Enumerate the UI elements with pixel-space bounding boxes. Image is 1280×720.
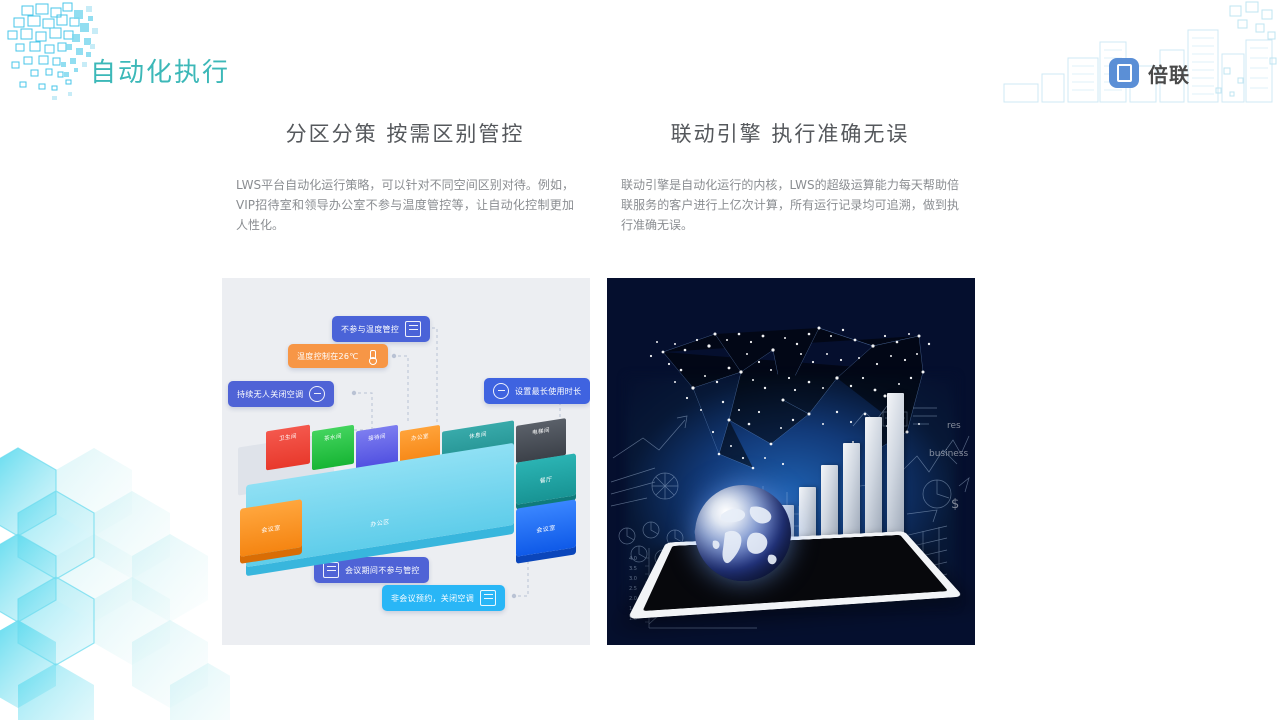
column-right: 联动引擎 执行准确无误 联动引擎是自动化运行的内核，LWS的超级运算能力每天帮助… [607, 118, 973, 235]
bar-chart-3d-icon [777, 389, 904, 549]
brand-logo: 倍联 [1109, 58, 1190, 88]
badge-label: 温度控制在26℃ [297, 351, 359, 362]
badge-label: 不参与温度管控 [341, 324, 399, 335]
svg-text:3.0: 3.0 [629, 576, 637, 582]
thermometer-icon [365, 349, 379, 363]
column-left: 分区分策 按需区别管控 LWS平台自动化运行策略，可以针对不同空间区别对待。例如… [222, 118, 588, 235]
room-meeting-blue[interactable]: 会议室 [516, 499, 576, 557]
document-list-icon [405, 321, 421, 337]
badge-label: 设置最长使用时长 [515, 386, 581, 397]
badge-unoccupied-shutdown[interactable]: 持续无人关闭空调 [228, 381, 334, 407]
svg-text:2.5: 2.5 [629, 586, 637, 592]
badge-temperature-26[interactable]: 温度控制在26℃ [288, 344, 388, 368]
globe-icon [695, 485, 791, 581]
svg-text:3.5: 3.5 [629, 566, 637, 572]
room-meeting-orange[interactable]: 会议室 [240, 499, 302, 557]
brand-name: 倍联 [1148, 59, 1190, 88]
sketch-label-res: res [947, 421, 961, 431]
sketch-label-dollar: $ [951, 497, 959, 512]
city-skyline-outline-decoration [980, 0, 1280, 110]
presence-sensor-icon [309, 386, 325, 402]
linkage-engine-illustration: res business $ 4.03.53.0 2.52.01.5 1.0 [607, 278, 975, 645]
hexagon-pattern-decoration [0, 360, 230, 720]
column-right-body: 联动引擎是自动化运行的内核，LWS的超级运算能力每天帮助倍联服务的客户进行上亿次… [621, 176, 959, 235]
column-right-heading: 联动引擎 执行准确无误 [607, 118, 973, 148]
column-left-body: LWS平台自动化运行策略，可以针对不同空间区别对待。例如，VIP招待室和领导办公… [236, 176, 574, 235]
room-pantry[interactable]: 茶水间 [312, 425, 354, 471]
rounded-square-logo-icon [1109, 58, 1139, 88]
room-restaurant[interactable]: 餐厅 [516, 453, 576, 505]
badge-label: 持续无人关闭空调 [237, 389, 303, 400]
badge-max-duration[interactable]: 设置最长使用时长 [484, 378, 590, 404]
timer-icon [493, 383, 509, 399]
tablet-screen [643, 535, 949, 611]
column-left-heading: 分区分策 按需区别管控 [222, 118, 588, 148]
floor-plan-3d: 卫生间 茶水间 接待间 办公室 休息间 电梯间 办公区 餐厅 会议室 [232, 418, 580, 618]
sketch-label-business: business [929, 449, 969, 459]
zone-policy-illustration: 不参与温度管控 温度控制在26℃ 持续无人关闭空调 设置最长使用时长 会议期间不… [222, 278, 590, 645]
page-title: 自动化执行 [90, 52, 230, 89]
svg-text:4.0: 4.0 [629, 556, 637, 562]
room-restroom[interactable]: 卫生间 [266, 425, 310, 471]
badge-no-temperature-control[interactable]: 不参与温度管控 [332, 316, 430, 342]
